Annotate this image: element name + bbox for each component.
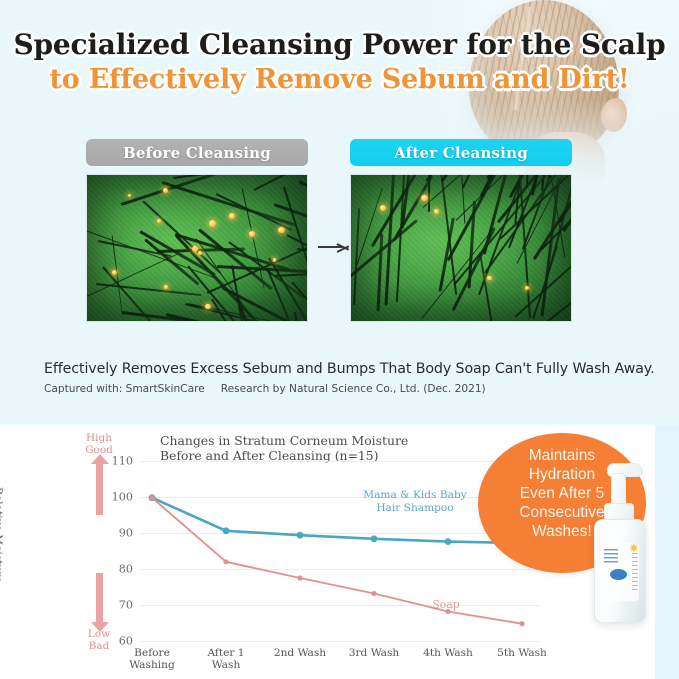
- headline-line-2: to Effectively Remove Sebum and Dirt!: [0, 64, 679, 96]
- sebum-spot: [229, 213, 235, 219]
- y-axis-tick-label: 90: [119, 527, 133, 540]
- bottle-neck: [611, 473, 626, 507]
- hero-section: Specialized Cleansing Power for the Scal…: [0, 0, 679, 425]
- product-bottle-image: ✷: [588, 457, 654, 637]
- data-point: [149, 495, 154, 500]
- axis-annotations: High Good Low Bad: [78, 433, 120, 663]
- sebum-spot: [421, 195, 427, 201]
- arrow-up-icon: [96, 463, 103, 515]
- right-arrow-icon: [316, 237, 352, 257]
- x-axis-tick-label: After 1 Wash: [190, 647, 262, 671]
- data-point: [519, 621, 524, 626]
- right-edge-strip: [655, 425, 679, 679]
- after-panel: After Cleansing: [350, 139, 572, 322]
- series-label-soap: Soap: [416, 599, 476, 612]
- data-point: [223, 527, 230, 534]
- y-axis-tick-label: 80: [119, 563, 133, 576]
- caption-block: Effectively Removes Excess Sebum and Bum…: [44, 361, 644, 395]
- x-axis-tick-label: 3rd Wash: [338, 647, 410, 659]
- axis-high-good-label: High Good: [78, 433, 120, 457]
- bottle-side-text: [632, 553, 638, 593]
- data-point: [371, 591, 376, 596]
- before-panel: Before Cleansing: [86, 139, 308, 322]
- sebum-spot: [278, 227, 284, 233]
- y-axis-tick-label: 70: [119, 599, 133, 612]
- axis-low-bad-label: Low Bad: [78, 629, 120, 653]
- sebum-spot: [487, 276, 491, 280]
- x-axis-tick-label: Before Washing: [116, 647, 188, 671]
- chart-title: Changes in Stratum Corneum Moisture Befo…: [160, 433, 408, 463]
- data-point: [445, 538, 452, 545]
- sebum-spot: [157, 219, 161, 223]
- before-cleansing-badge: Before Cleansing: [86, 139, 308, 166]
- x-axis-tick-label: 4th Wash: [412, 647, 484, 659]
- after-cleansing-badge: After Cleansing: [350, 139, 572, 166]
- captured-with-text: Captured with: SmartSkinCare: [44, 383, 205, 395]
- sebum-spot: [434, 209, 439, 214]
- sebum-spot: [164, 285, 167, 288]
- y-axis-label: Relative Moisture Content: [0, 487, 4, 597]
- x-axis-tick-label: 5th Wash: [486, 647, 558, 659]
- sebum-spot: [205, 304, 211, 310]
- sebum-spot: [273, 258, 276, 261]
- sebum-spot: [209, 220, 216, 227]
- caption-main-text: Effectively Removes Excess Sebum and Bum…: [44, 361, 644, 377]
- arrow-down-icon: [96, 573, 103, 623]
- data-point: [297, 532, 304, 539]
- page-title: Specialized Cleansing Power for the Scal…: [0, 28, 679, 96]
- before-microscope-image: [86, 174, 308, 322]
- sebum-spot: [192, 246, 198, 252]
- series-label-shampoo: Mama & Kids Baby Hair Shampoo: [355, 489, 475, 514]
- research-by-text: Research by Natural Science Co., Ltd. (D…: [221, 383, 486, 395]
- data-point: [223, 559, 228, 564]
- y-axis-tick-label: 110: [112, 455, 133, 468]
- caption-sub-text: Captured with: SmartSkinCareResearch by …: [44, 383, 644, 395]
- bottle-label-text: [604, 549, 618, 563]
- after-microscope-image: [350, 174, 572, 322]
- y-axis-tick-label: 60: [119, 635, 133, 648]
- data-point: [297, 575, 302, 580]
- headline-line-1: Specialized Cleansing Power for the Scal…: [0, 28, 679, 61]
- chart-section: Changes in Stratum Corneum Moisture Befo…: [0, 425, 679, 679]
- hair-strand: [121, 321, 249, 322]
- sebum-spot: [380, 205, 386, 211]
- bottle-label-logo: [610, 569, 627, 580]
- gridline: [140, 641, 540, 642]
- y-axis-tick-label: 100: [112, 491, 133, 504]
- sebum-spot: [112, 270, 117, 275]
- x-axis-tick-label: 2nd Wash: [264, 647, 336, 659]
- data-point: [371, 535, 378, 542]
